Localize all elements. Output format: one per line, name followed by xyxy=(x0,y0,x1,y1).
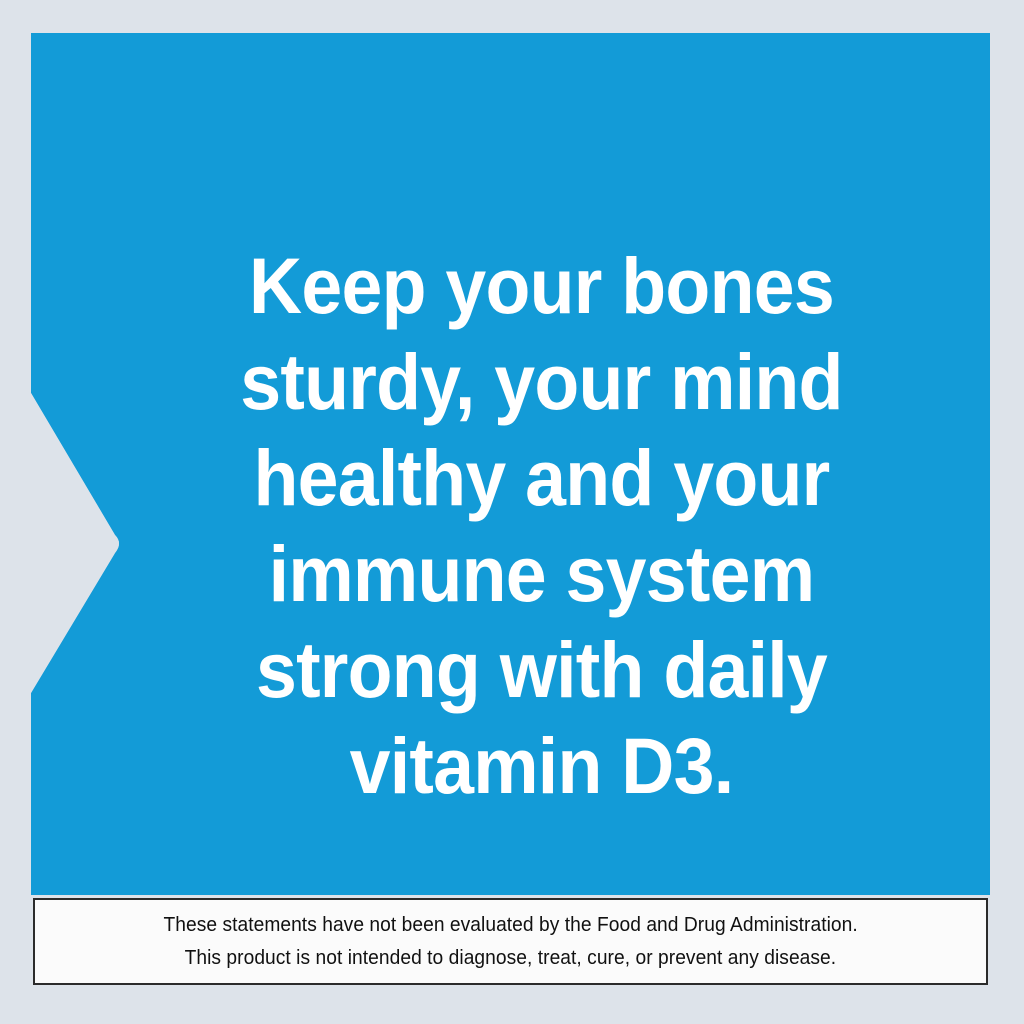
headline-line-1: Keep your bones xyxy=(96,238,988,334)
headline-line-2: sturdy, your mind xyxy=(96,334,988,430)
disclaimer-line-1: These statements have not been evaluated… xyxy=(163,909,857,942)
promo-graphic-canvas: Keep your bones sturdy, your mind health… xyxy=(0,0,1024,1024)
disclaimer-line-2: This product is not intended to diagnose… xyxy=(185,942,837,975)
headline: Keep your bones sturdy, your mind health… xyxy=(62,238,1021,814)
headline-line-5: strong with daily xyxy=(96,622,988,718)
fda-disclaimer-box: These statements have not been evaluated… xyxy=(33,898,988,985)
headline-line-6: vitamin D3. xyxy=(96,718,988,814)
headline-line-3: healthy and your xyxy=(96,430,988,526)
blue-content-panel: Keep your bones sturdy, your mind health… xyxy=(31,33,990,895)
headline-line-4: immune system xyxy=(96,526,988,622)
